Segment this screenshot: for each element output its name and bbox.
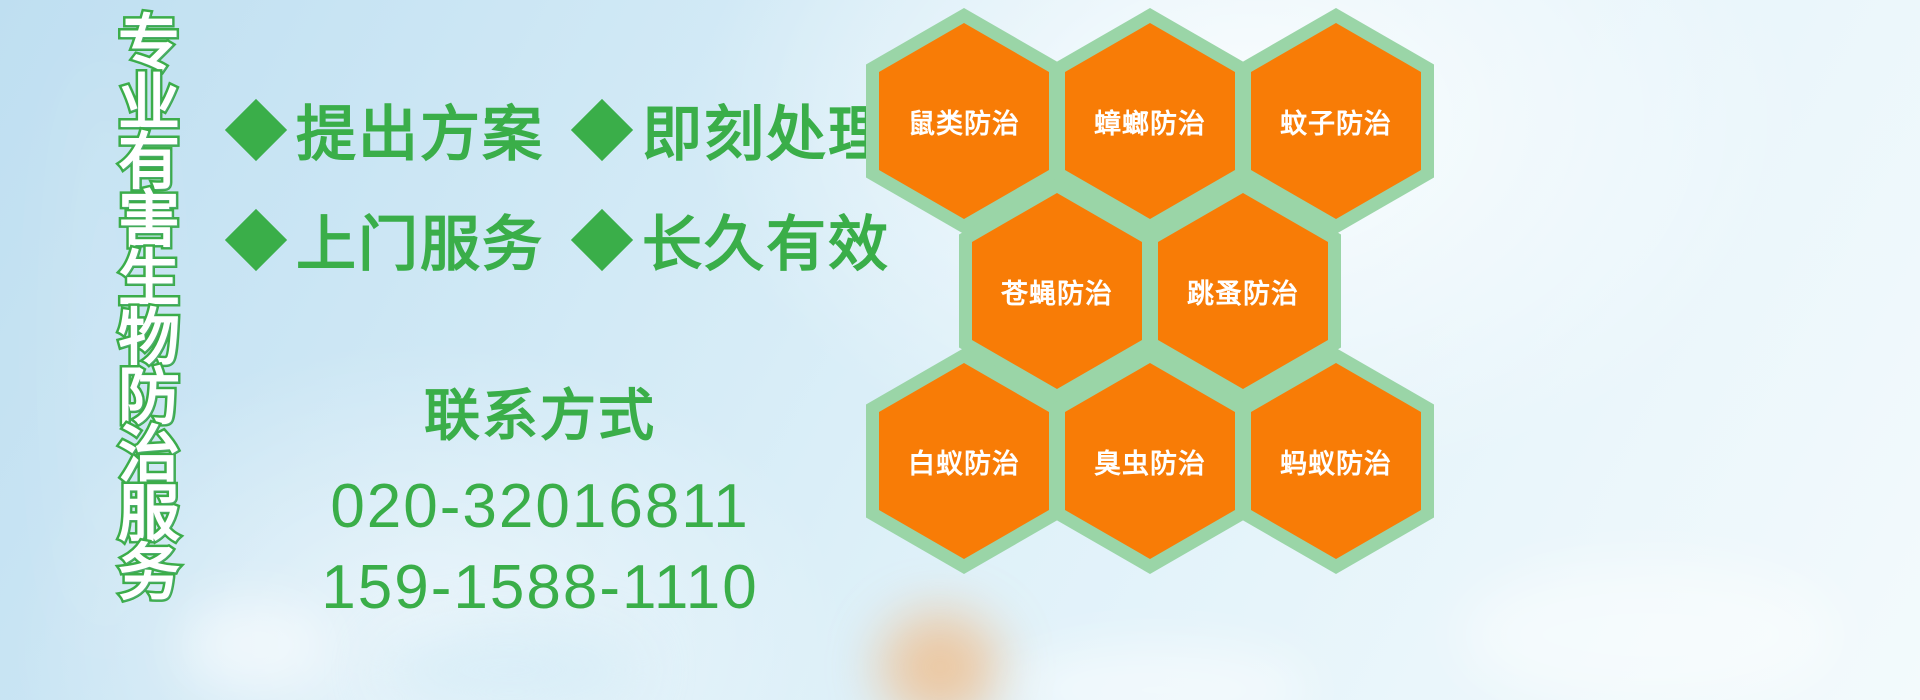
diamond-icon xyxy=(571,208,633,270)
phone-number-mobile[interactable]: 159-1588-1110 xyxy=(240,547,840,629)
hex-label: 蚊子防治 xyxy=(1280,102,1392,141)
hex-inner: 跳蚤防治 xyxy=(1158,193,1328,389)
feature-item-immediate-handling: 即刻处理 xyxy=(578,86,890,173)
hex-label: 白蚁防治 xyxy=(908,442,1020,481)
feature-item-door-service: 上门服务 xyxy=(232,196,544,283)
feature-label: 上门服务 xyxy=(296,196,544,283)
diamond-icon xyxy=(225,98,287,160)
banner-canvas: 专 业 有 害 生 物 防 治 服 务 提出方案 即刻处理 上门服务 长久有效 xyxy=(0,0,1920,700)
vertical-headline-char: 务 xyxy=(118,543,180,604)
hex-label: 苍蝇防治 xyxy=(1001,272,1113,311)
hex-label: 鼠类防治 xyxy=(908,102,1020,141)
bokeh-blob xyxy=(1460,560,1840,700)
services-honeycomb: 鼠类防治 蟑螂防治 蚊子防治 苍蝇防治 跳蚤防治 白蚁防治 xyxy=(856,0,1476,700)
feature-label: 长久有效 xyxy=(642,196,890,283)
hex-inner: 苍蝇防治 xyxy=(972,193,1142,389)
diamond-icon xyxy=(225,208,287,270)
feature-item-long-lasting: 长久有效 xyxy=(578,196,890,283)
hex-label: 臭虫防治 xyxy=(1094,442,1206,481)
hex-inner: 鼠类防治 xyxy=(879,23,1049,219)
contact-title: 联系方式 xyxy=(240,386,840,448)
feature-label: 提出方案 xyxy=(296,86,544,173)
feature-item-propose-plan: 提出方案 xyxy=(232,86,544,173)
hex-label: 蟑螂防治 xyxy=(1094,102,1206,141)
hex-label: 蚂蚁防治 xyxy=(1280,442,1392,481)
hex-inner: 白蚁防治 xyxy=(879,363,1049,559)
vertical-headline: 专 业 有 害 生 物 防 治 服 务 xyxy=(106,14,192,602)
bokeh-blob xyxy=(380,625,640,700)
hex-label: 跳蚤防治 xyxy=(1187,272,1299,311)
feature-row-1: 提出方案 即刻处理 xyxy=(232,86,890,173)
feature-row-2: 上门服务 长久有效 xyxy=(232,196,890,283)
hex-inner: 蟑螂防治 xyxy=(1065,23,1235,219)
hex-inner: 臭虫防治 xyxy=(1065,363,1235,559)
diamond-icon xyxy=(571,98,633,160)
hex-inner: 蚂蚁防治 xyxy=(1251,363,1421,559)
hex-inner: 蚊子防治 xyxy=(1251,23,1421,219)
phone-number-landline[interactable]: 020-32016811 xyxy=(240,466,840,548)
feature-label: 即刻处理 xyxy=(642,86,890,173)
contact-block: 联系方式 020-32016811 159-1588-1110 xyxy=(240,386,840,629)
